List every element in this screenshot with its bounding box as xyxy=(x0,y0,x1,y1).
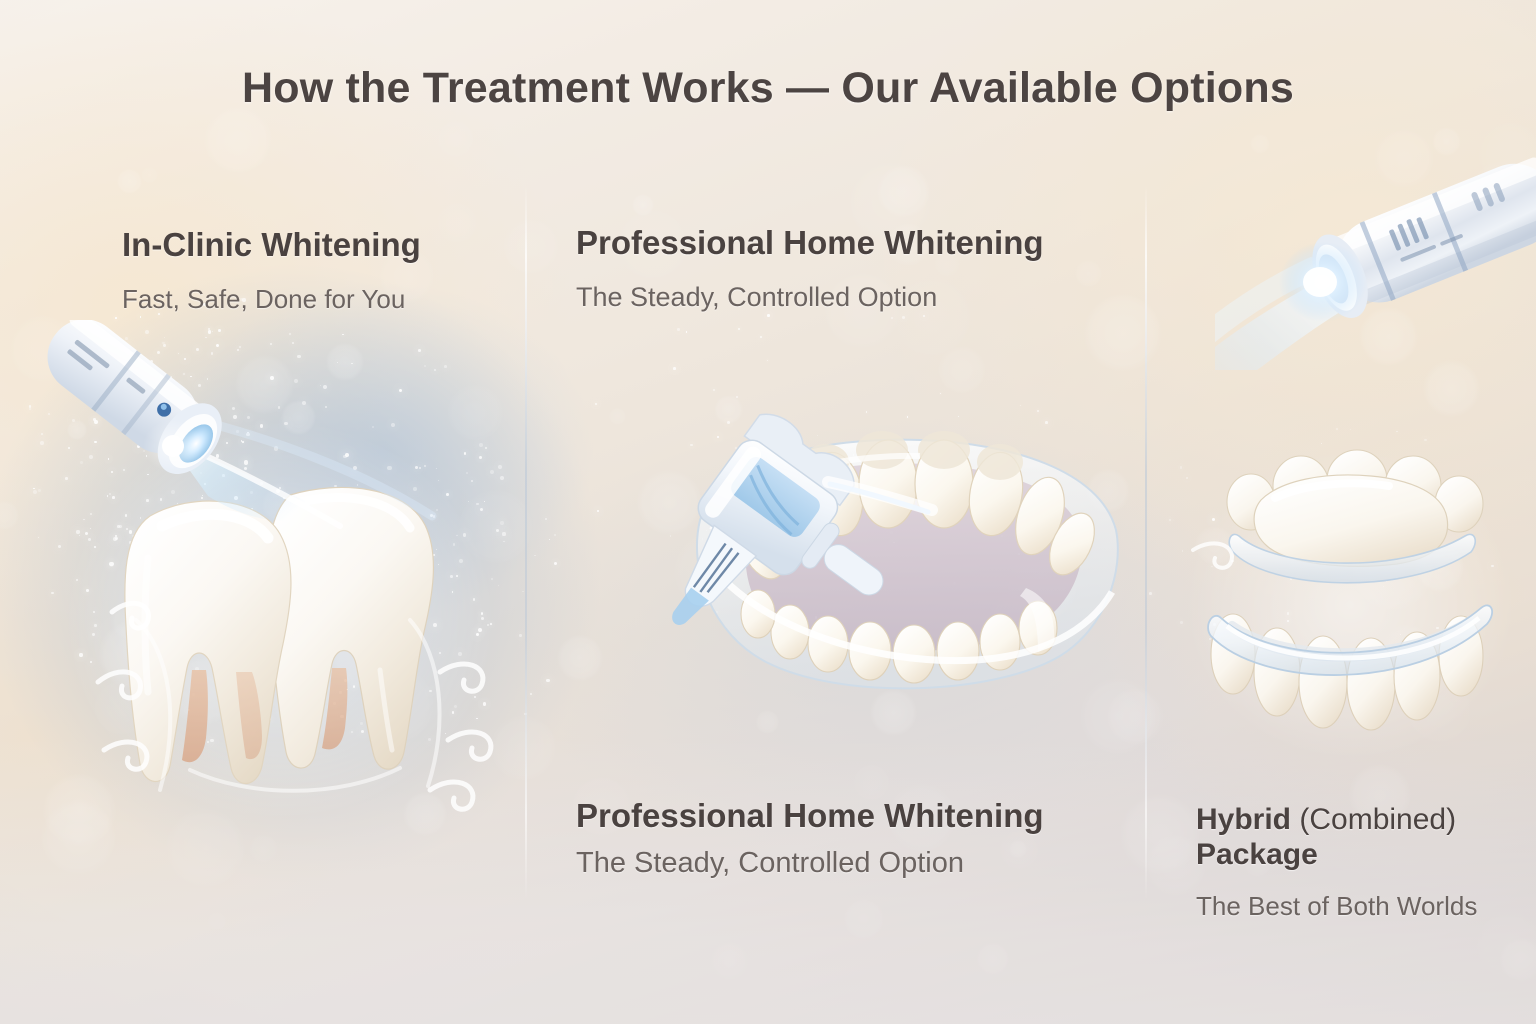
column-heading-in-clinic: In-Clinic Whitening xyxy=(122,226,421,264)
column-divider-left xyxy=(525,185,527,900)
page-title: How the Treatment Works — Our Available … xyxy=(0,64,1536,113)
column-subtitle-home-top: The Steady, Controlled Option xyxy=(576,281,937,315)
poster-canvas: How the Treatment Works — Our Available … xyxy=(0,0,1536,1024)
clear-trays-on-teeth-illustration xyxy=(1175,440,1525,770)
column-subtitle-home-bottom: The Steady, Controlled Option xyxy=(576,845,964,881)
column-heading-hybrid: Hybrid (Combined) Package xyxy=(1196,803,1476,873)
column-heading-home-bottom: Professional Home Whitening xyxy=(576,797,1044,835)
whitening-light-handpiece-icon xyxy=(1215,130,1536,370)
hybrid-heading-light: (Combined) xyxy=(1299,803,1456,836)
column-divider-right xyxy=(1145,185,1147,900)
hybrid-heading-line2: Package xyxy=(1196,838,1318,871)
gel-syringe-and-tray-illustration xyxy=(540,370,1140,730)
column-subtitle-hybrid: The Best of Both Worlds xyxy=(1196,890,1477,923)
column-heading-home-top: Professional Home Whitening xyxy=(576,224,1044,262)
column-subtitle-in-clinic: Fast, Safe, Done for You xyxy=(122,283,405,316)
hybrid-heading-strong: Hybrid xyxy=(1196,803,1291,836)
molar-teeth-illustration xyxy=(40,320,520,820)
